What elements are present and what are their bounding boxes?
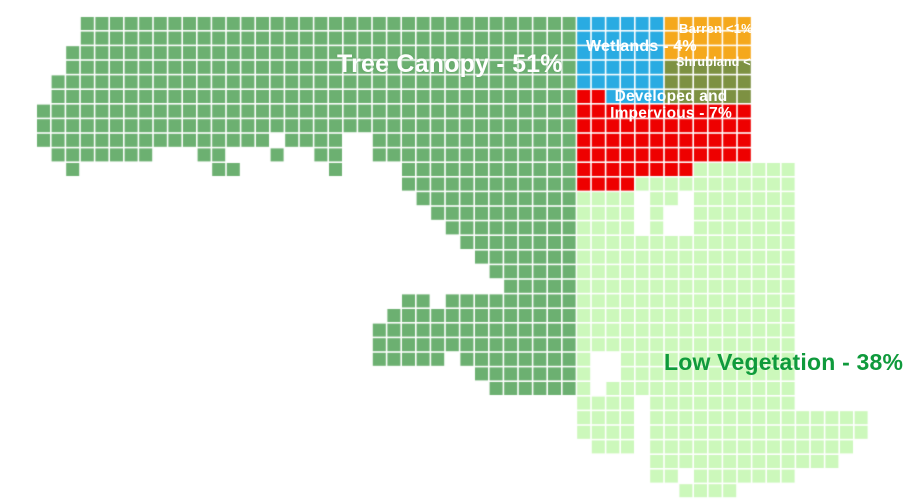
maryland-pixel-map xyxy=(0,0,912,502)
land-cover-infographic: Tree Canopy - 51% Low Vegetation - 38% W… xyxy=(0,0,912,502)
